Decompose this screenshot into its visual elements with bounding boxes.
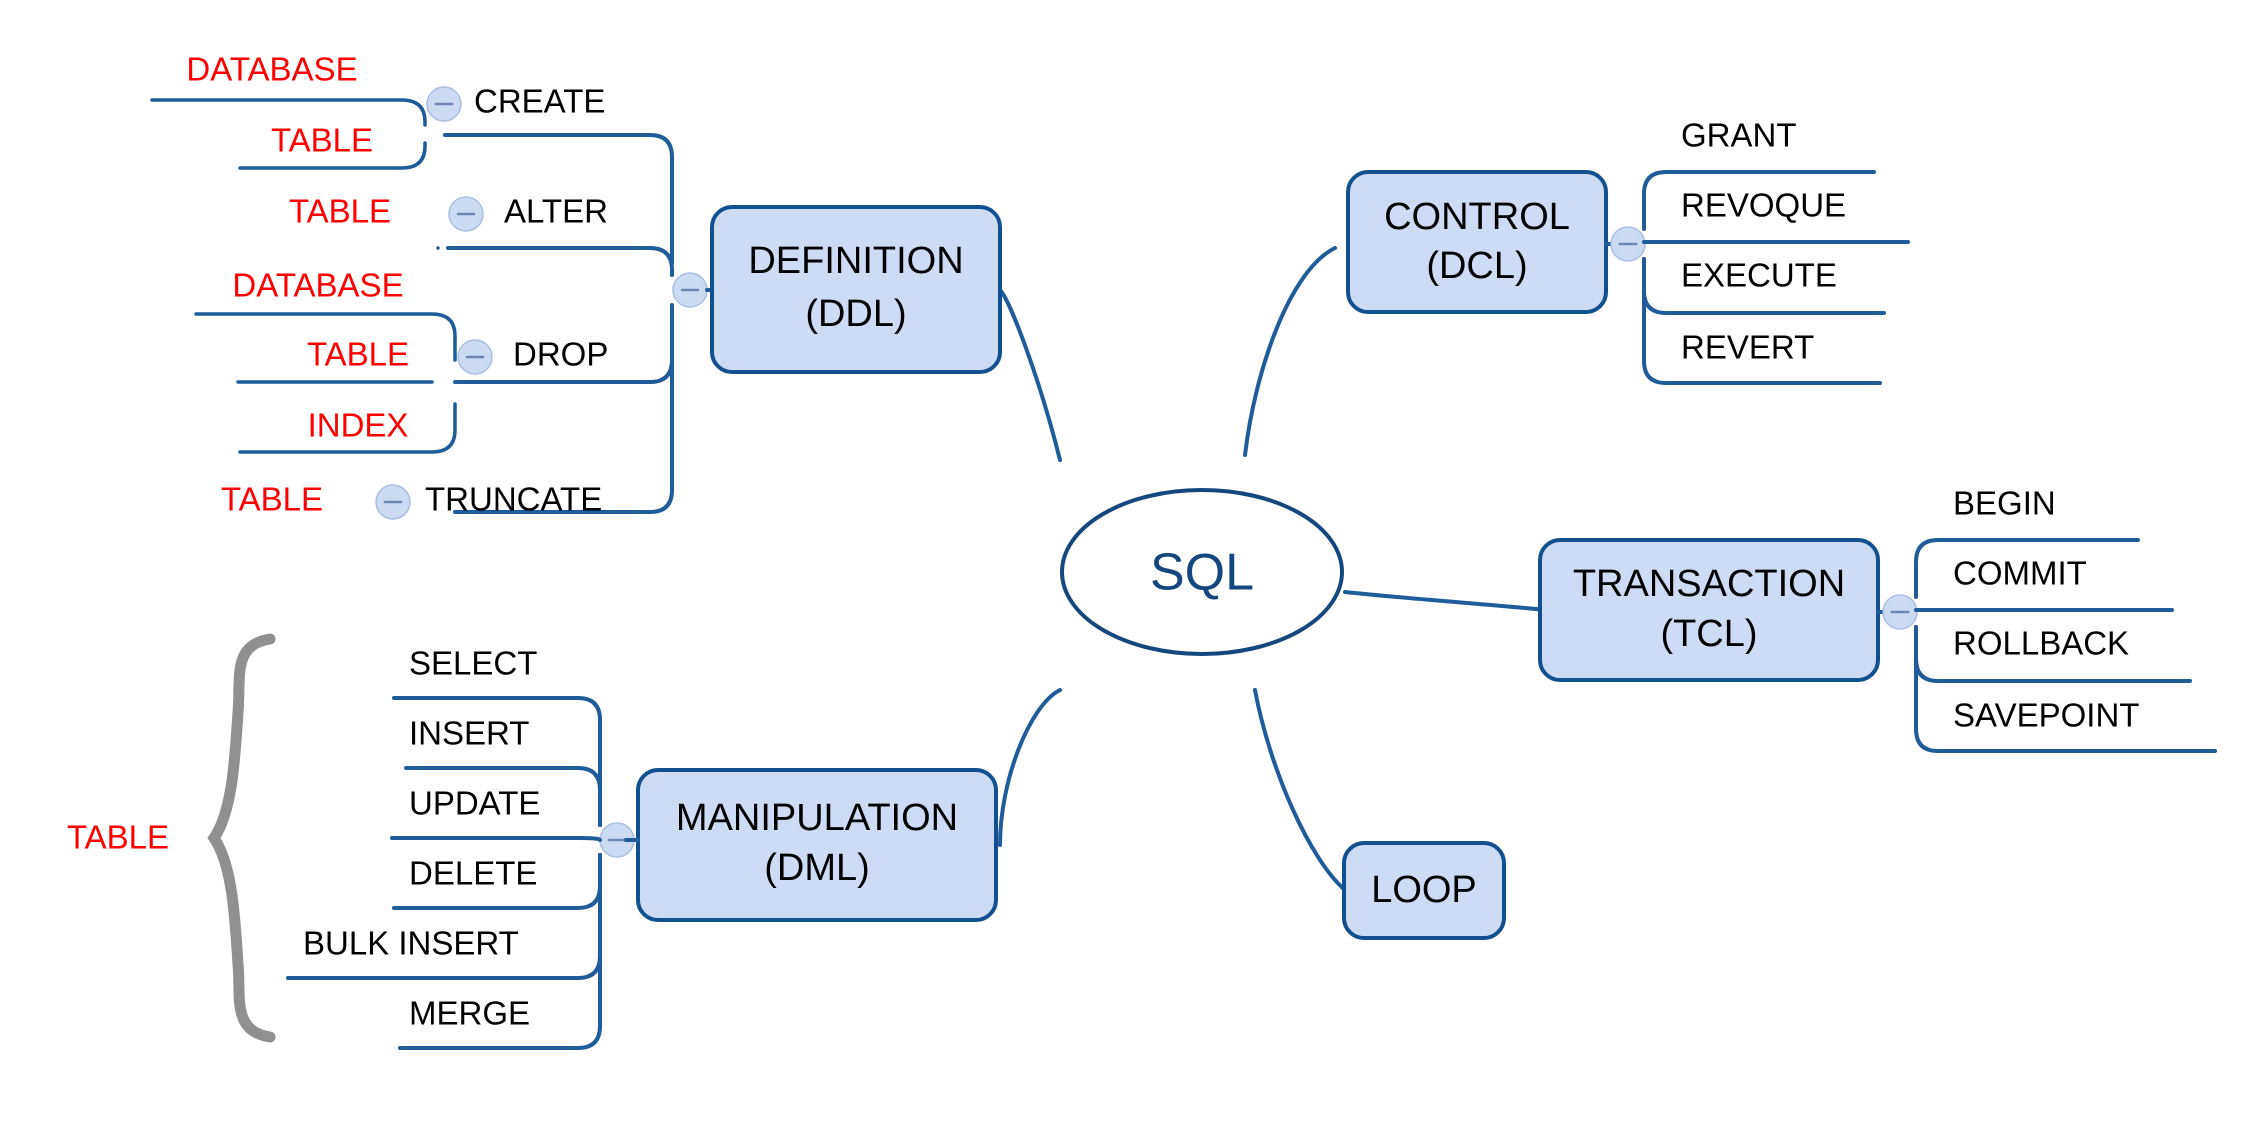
ddl-truncate-qualifier-table: TABLE: [221, 481, 323, 518]
ddl-child-label-alter: ALTER: [504, 193, 608, 230]
node-dcl-label-line2: (DCL): [1426, 245, 1527, 287]
ddl-drop-qualifier-table: TABLE: [307, 336, 409, 373]
node-dcl-box: [1348, 172, 1606, 312]
node-tcl-label-line2: (TCL): [1660, 613, 1757, 655]
ddl-alter-group: TABLE: [289, 193, 438, 248]
dml-group-brace: [214, 639, 270, 1037]
ddl-collapse-create[interactable]: [427, 87, 461, 121]
ddl-drop-group: DATABASE TABLE INDEX: [196, 267, 455, 452]
ddl-collapse-node[interactable]: [673, 273, 715, 307]
ddl-child-label-drop: DROP: [513, 336, 608, 373]
mindmap-diagram: SQL DATABASE TABLE CREATE TABLE ALTER DA…: [0, 0, 2268, 1146]
curly-brace-icon: [214, 639, 270, 1037]
dml-leaf-select: SELECT: [409, 645, 537, 682]
dcl-leaf-revoque: REVOQUE: [1681, 187, 1846, 224]
node-dml-box: [638, 770, 996, 920]
dcl-leaf-grant: GRANT: [1681, 117, 1797, 154]
ddl-child-label-truncate: TRUNCATE: [425, 481, 602, 518]
ddl-drop-qualifier-database: DATABASE: [232, 267, 403, 304]
connector-center-to-tcl: [1345, 592, 1545, 610]
ddl-truncate-group: TABLE: [221, 481, 323, 518]
ddl-subtree-lines: [445, 135, 672, 512]
tcl-leaf-rollback: ROLLBACK: [1953, 625, 2129, 662]
tcl-leaf-commit: COMMIT: [1953, 555, 2087, 592]
ddl-collapse-drop[interactable]: [458, 340, 492, 374]
center-node-sql[interactable]: SQL: [1062, 490, 1342, 654]
dml-leaf-delete: DELETE: [409, 855, 537, 892]
dml-leaf-bulk-insert: BULK INSERT: [303, 925, 519, 962]
ddl-alter-qualifier-table: TABLE: [289, 193, 391, 230]
node-dml-label-line1: MANIPULATION: [676, 797, 958, 839]
dcl-leaf-execute: EXECUTE: [1681, 257, 1837, 294]
ddl-line-alter: [448, 248, 672, 275]
node-loop[interactable]: LOOP: [1344, 843, 1504, 938]
connector-center-to-loop: [1255, 690, 1345, 890]
node-dml-label-line2: (DML): [764, 847, 870, 889]
connector-center-to-ddl: [1000, 290, 1060, 460]
connector-center-to-dcl: [1245, 248, 1335, 455]
dml-leaf-update: UPDATE: [409, 785, 540, 822]
dml-leaf-insert: INSERT: [409, 715, 529, 752]
node-dml[interactable]: MANIPULATION (DML): [638, 770, 996, 920]
tcl-leaf-savepoint: SAVEPOINT: [1953, 697, 2139, 734]
dml-leaf-merge: MERGE: [409, 995, 530, 1032]
dml-line-update: [392, 838, 600, 840]
node-dcl[interactable]: CONTROL (DCL): [1348, 172, 1606, 312]
connector-center-to-dml: [1000, 690, 1060, 845]
ddl-drop-qualifier-index: INDEX: [308, 407, 409, 444]
mindmap-canvas: SQL DATABASE TABLE CREATE TABLE ALTER DA…: [0, 0, 2268, 1146]
tcl-leaf-begin: BEGIN: [1953, 485, 2056, 522]
dml-collapse-node[interactable]: [600, 823, 638, 857]
dcl-collapse-node[interactable]: [1606, 227, 1645, 261]
node-tcl-label-line1: TRANSACTION: [1573, 563, 1845, 605]
node-ddl[interactable]: DEFINITION (DDL): [712, 207, 1000, 372]
dcl-leaf-revert: REVERT: [1681, 329, 1814, 366]
dml-group-qualifier-table: TABLE: [67, 819, 169, 856]
tcl-collapse-node[interactable]: [1878, 595, 1917, 629]
ddl-create-qualifier-table: TABLE: [271, 122, 373, 159]
ddl-collapse-truncate[interactable]: [376, 485, 410, 519]
ddl-collapse-alter[interactable]: [449, 197, 483, 231]
node-ddl-label-line1: DEFINITION: [748, 240, 963, 282]
node-loop-label: LOOP: [1371, 869, 1477, 911]
ddl-child-label-create: CREATE: [474, 83, 605, 120]
ddl-create-qualifier-database: DATABASE: [186, 51, 357, 88]
node-ddl-label-line2: (DDL): [805, 293, 906, 335]
node-tcl[interactable]: TRANSACTION (TCL): [1540, 540, 1878, 680]
node-tcl-box: [1540, 540, 1878, 680]
node-ddl-box: [712, 207, 1000, 372]
ddl-create-group: DATABASE TABLE: [152, 51, 425, 168]
center-node-label: SQL: [1150, 544, 1254, 602]
node-dcl-label-line1: CONTROL: [1384, 196, 1570, 238]
